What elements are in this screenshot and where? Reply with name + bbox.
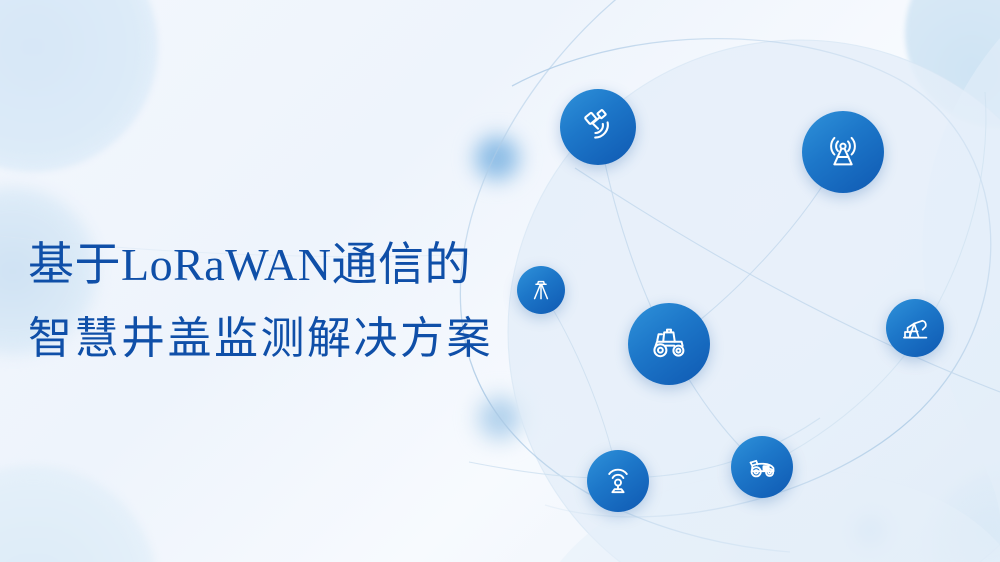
radio-tower-icon [820, 129, 866, 175]
slide-canvas: 基于LoRaWAN通信的 智慧井盖监测解决方案 [0, 0, 1000, 562]
node-wireless-sensor[interactable] [587, 450, 649, 512]
harvester-icon [743, 448, 781, 486]
decorative-blob-top-left [0, 0, 158, 172]
node-radio-tower[interactable] [802, 111, 884, 193]
tractor-icon [645, 320, 693, 368]
decorative-blob-bottom-right [930, 470, 1000, 562]
node-oil-pumpjack[interactable] [886, 299, 944, 357]
slide-title: 基于LoRaWAN通信的 智慧井盖监测解决方案 [28, 228, 568, 376]
title-line-1: 基于LoRaWAN通信的 [28, 228, 568, 302]
decorative-dot-upper [469, 130, 525, 186]
decorative-dot-corner [848, 508, 892, 552]
title-line-2: 智慧井盖监测解决方案 [28, 302, 568, 376]
node-harvester[interactable] [731, 436, 793, 498]
node-survey-tripod[interactable] [517, 266, 565, 314]
node-tractor[interactable] [628, 303, 710, 385]
decorative-blob-bottom-left [0, 465, 158, 562]
wireless-sensor-icon [600, 463, 636, 499]
node-satellite[interactable] [560, 89, 636, 165]
satellite-dish-icon [576, 105, 620, 149]
survey-tripod-icon [527, 276, 555, 304]
decorative-dot-lower [474, 392, 526, 444]
decorative-blob-top-right [905, 0, 1000, 128]
oil-pumpjack-icon [898, 311, 932, 345]
